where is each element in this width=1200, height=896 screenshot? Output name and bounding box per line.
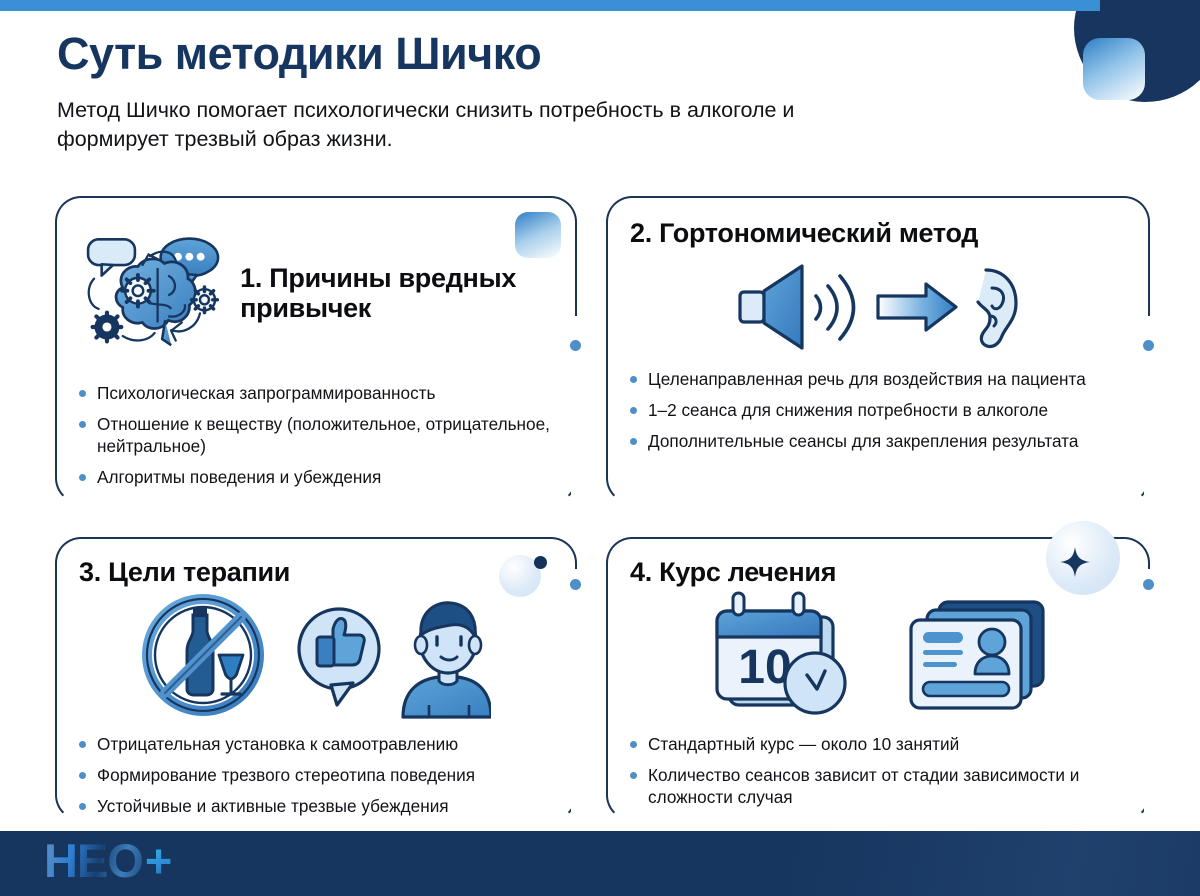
card-title: 4. Курс лечения xyxy=(630,557,1126,587)
therapy-goals-illustration xyxy=(141,593,491,721)
decorative-gradient-square xyxy=(1083,38,1145,100)
card-causes-of-bad-habits[interactable]: 1. Причины вредных привычек Психологичес… xyxy=(55,196,577,504)
card-connector-dot xyxy=(1143,579,1154,590)
list-item: Алгоритмы поведения и убеждения xyxy=(79,466,553,488)
calendar-icon: 10 xyxy=(703,591,863,719)
card-connector-dot xyxy=(570,340,581,351)
list-item: Устойчивые и активные трезвые убеждения xyxy=(79,795,553,817)
logo-plus-icon: + xyxy=(145,837,171,884)
brand-logo[interactable]: НЕО + xyxy=(44,837,171,884)
card-edge-gap xyxy=(1144,569,1152,823)
card-connector-dot xyxy=(570,579,581,590)
card-title: 2. Гортономический метод xyxy=(630,218,1126,248)
person-icon xyxy=(403,603,491,717)
list-item: Количество сеансов зависит от стадии зав… xyxy=(630,764,1126,808)
card-bullet-list: Отрицательная установка к самоотравлению… xyxy=(79,733,553,817)
page-subtitle: Метод Шичко помогает психологически сниз… xyxy=(57,96,887,155)
page-footer: НЕО + xyxy=(0,831,1200,896)
wine-glass-icon xyxy=(219,655,243,694)
gear-icon xyxy=(93,313,122,342)
id-cards-icon xyxy=(903,594,1053,716)
cards-grid: 1. Причины вредных привычек Психологичес… xyxy=(55,196,1150,821)
page-header: Суть методики Шичко Метод Шичко помогает… xyxy=(57,30,1057,155)
ear-icon xyxy=(978,270,1016,347)
arrow-right-icon xyxy=(878,284,956,330)
sound-waves-icon xyxy=(816,276,854,339)
speaker-icon xyxy=(740,266,802,348)
card-therapy-goals[interactable]: 3. Цели терапии xyxy=(55,537,577,821)
card-bullet-list: Целенаправленная речь для воздействия на… xyxy=(630,368,1126,452)
brain-icon xyxy=(79,214,230,372)
list-item: Отношение к веществу (положительное, отр… xyxy=(79,413,553,457)
list-item: Дополнительные сеансы для закрепления ре… xyxy=(630,430,1126,452)
card-gortonomic-method[interactable]: 2. Гортономический метод xyxy=(606,196,1150,504)
card-edge-gap xyxy=(571,569,579,823)
card-treatment-course[interactable]: 4. Курс лечения 10 xyxy=(606,537,1150,821)
gear-icon xyxy=(122,275,154,307)
list-item: Формирование трезвого стереотипа поведен… xyxy=(79,764,553,786)
list-item: Психологическая запрограммированность xyxy=(79,382,553,404)
card-bullet-list: Психологическая запрограммированность От… xyxy=(79,382,553,488)
card-connector-dot xyxy=(1143,340,1154,351)
list-item: Отрицательная установка к самоотравлению xyxy=(79,733,553,755)
card-title: 3. Цели терапии xyxy=(79,557,553,587)
top-accent-bar xyxy=(0,0,1100,11)
no-alcohol-icon xyxy=(147,599,259,711)
list-item: Целенаправленная речь для воздействия на… xyxy=(630,368,1126,390)
list-item: 1–2 сеанса для снижения потребности в ал… xyxy=(630,399,1126,421)
gear-icon xyxy=(192,287,218,313)
page-title: Суть методики Шичко xyxy=(57,30,1057,79)
speaker-ear-illustration xyxy=(728,258,1028,354)
clock-icon xyxy=(785,653,845,713)
card-title: 1. Причины вредных привычек xyxy=(240,263,553,323)
list-item: Стандартный курс — около 10 занятий xyxy=(630,733,1126,755)
card-bullet-list: Стандартный курс — около 10 занятий Коли… xyxy=(630,733,1126,808)
footer-sheen xyxy=(780,831,1200,896)
logo-word: НЕО xyxy=(44,837,143,884)
thumbs-up-icon xyxy=(299,609,379,705)
